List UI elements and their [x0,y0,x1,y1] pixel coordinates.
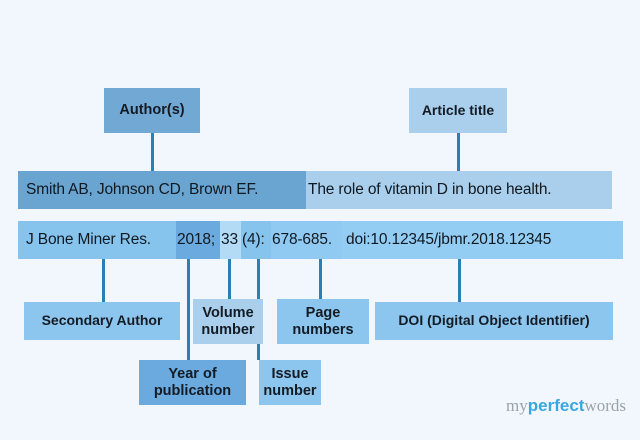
citation-volume-text: 33 [221,231,238,249]
citation-segment-volume: 33 [220,221,241,259]
watermark-part-perfect: perfect [528,396,585,415]
callout-volume-number-line2: number [201,322,254,338]
callout-year-of-publication-line1: Year of [168,366,216,382]
callout-volume-number-line1: Volume [202,305,253,321]
connector-volume-number [228,259,231,302]
connector-page-numbers [319,259,322,302]
callout-secondary-author-label: Secondary Author [42,313,163,329]
callout-authors: Author(s) [104,88,200,133]
connector-secondary-author [102,259,105,302]
citation-segment-year: 2018; [176,221,220,259]
callout-page-numbers-line1: Page [306,305,341,321]
citation-segment-article-title: The role of vitamin D in bone health. [306,171,612,209]
callout-volume-number: Volume number [193,299,263,344]
citation-article-title-text: The role of vitamin D in bone health. [308,181,551,199]
citation-doi-text: doi:10.12345/jbmr.2018.12345 [346,231,551,249]
citation-line-2: J Bone Miner Res. 2018; 33 (4): 678-685.… [18,221,623,259]
callout-article-title: Article title [409,88,507,133]
callout-page-numbers-line2: numbers [292,322,353,338]
callout-issue-number-line2: number [263,383,316,399]
citation-pages-text: 678-685. [272,231,332,249]
citation-segment-doi: doi:10.12345/jbmr.2018.12345 [342,221,623,259]
citation-segment-pages: 678-685. [271,221,342,259]
connector-article-title-top [457,133,460,171]
callout-doi: DOI (Digital Object Identifier) [375,302,613,340]
citation-line-1: Smith AB, Johnson CD, Brown EF. The role… [18,171,612,209]
diagram-canvas: Author(s) Article title Smith AB, Johnso… [0,0,640,440]
callout-doi-label: DOI (Digital Object Identifier) [398,313,589,329]
citation-journal-text: J Bone Miner Res. [26,231,151,249]
citation-authors-text: Smith AB, Johnson CD, Brown EF. [26,181,258,199]
citation-year-text: 2018; [177,231,215,249]
citation-segment-issue: (4): [241,221,271,259]
watermark-part-my: my [506,396,528,415]
callout-year-of-publication: Year of publication [139,360,246,405]
citation-segment-journal: J Bone Miner Res. [18,221,176,259]
connector-doi [458,259,461,302]
callout-year-of-publication-line2: publication [154,383,231,399]
watermark-part-words: words [584,396,626,415]
citation-issue-text: (4): [242,231,265,249]
callout-secondary-author: Secondary Author [24,302,180,340]
connector-year-of-publication [187,259,190,360]
callout-issue-number-line1: Issue [271,366,308,382]
connector-authors-top [151,133,154,171]
callout-authors-label: Author(s) [119,102,184,118]
callout-issue-number: Issue number [259,360,321,405]
watermark-logo: myperfectwords [506,396,626,416]
callout-page-numbers: Page numbers [277,299,369,344]
callout-article-title-label: Article title [422,103,494,119]
citation-segment-authors: Smith AB, Johnson CD, Brown EF. [18,171,306,209]
